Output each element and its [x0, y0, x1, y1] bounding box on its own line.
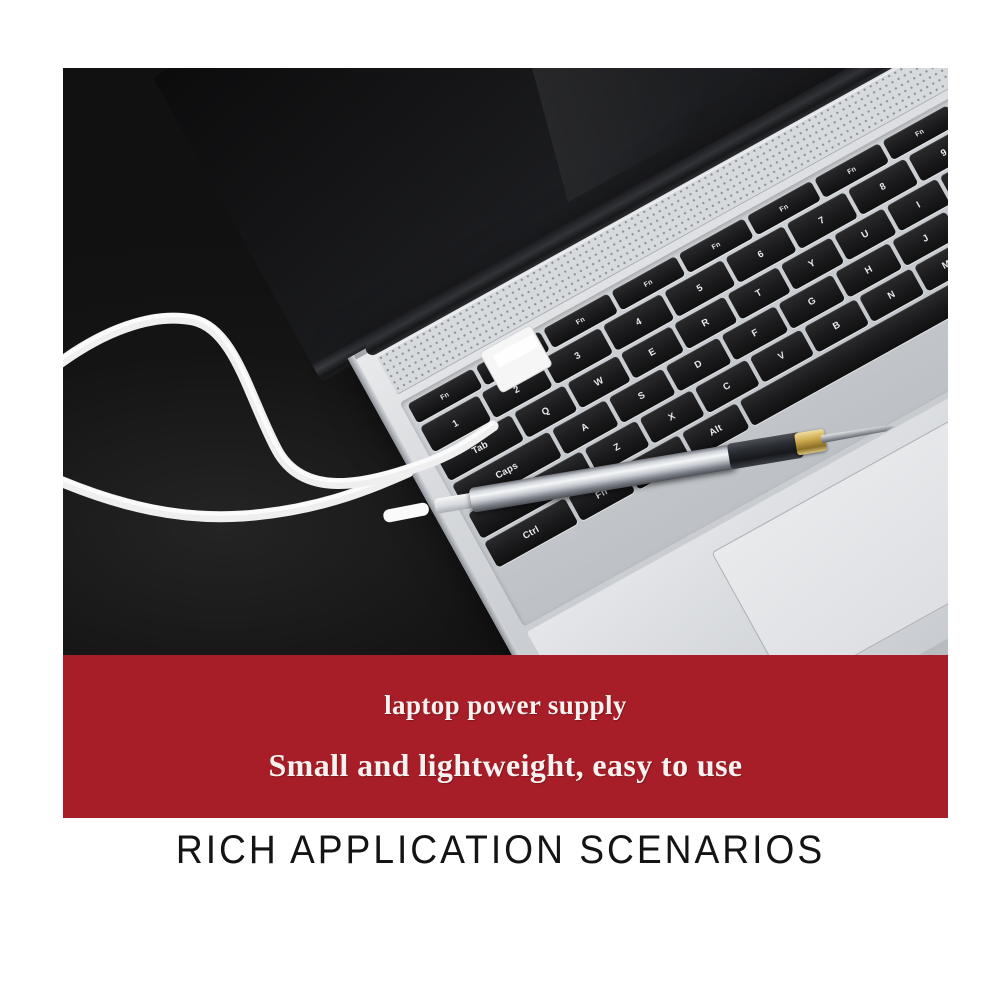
page-title: RICH APPLICATION SCENARIOS — [35, 828, 966, 873]
product-photo: Fn Fn Fn Fn Fn Fn Fn Fn Fn 1 2 3 4 5 6 — [63, 68, 948, 655]
caption-banner: laptop power supply Small and lightweigh… — [63, 655, 948, 818]
banner-line-2: Small and lightweight, easy to use — [268, 747, 742, 784]
banner-line-1: laptop power supply — [384, 690, 627, 721]
iron-neck — [727, 432, 804, 470]
product-banner-page: Fn Fn Fn Fn Fn Fn Fn Fn Fn 1 2 3 4 5 6 — [0, 0, 1001, 1001]
cable-strain-relief — [382, 502, 430, 524]
usb-cable — [63, 68, 948, 655]
iron-tip — [821, 423, 895, 443]
usb-connector — [479, 325, 552, 393]
